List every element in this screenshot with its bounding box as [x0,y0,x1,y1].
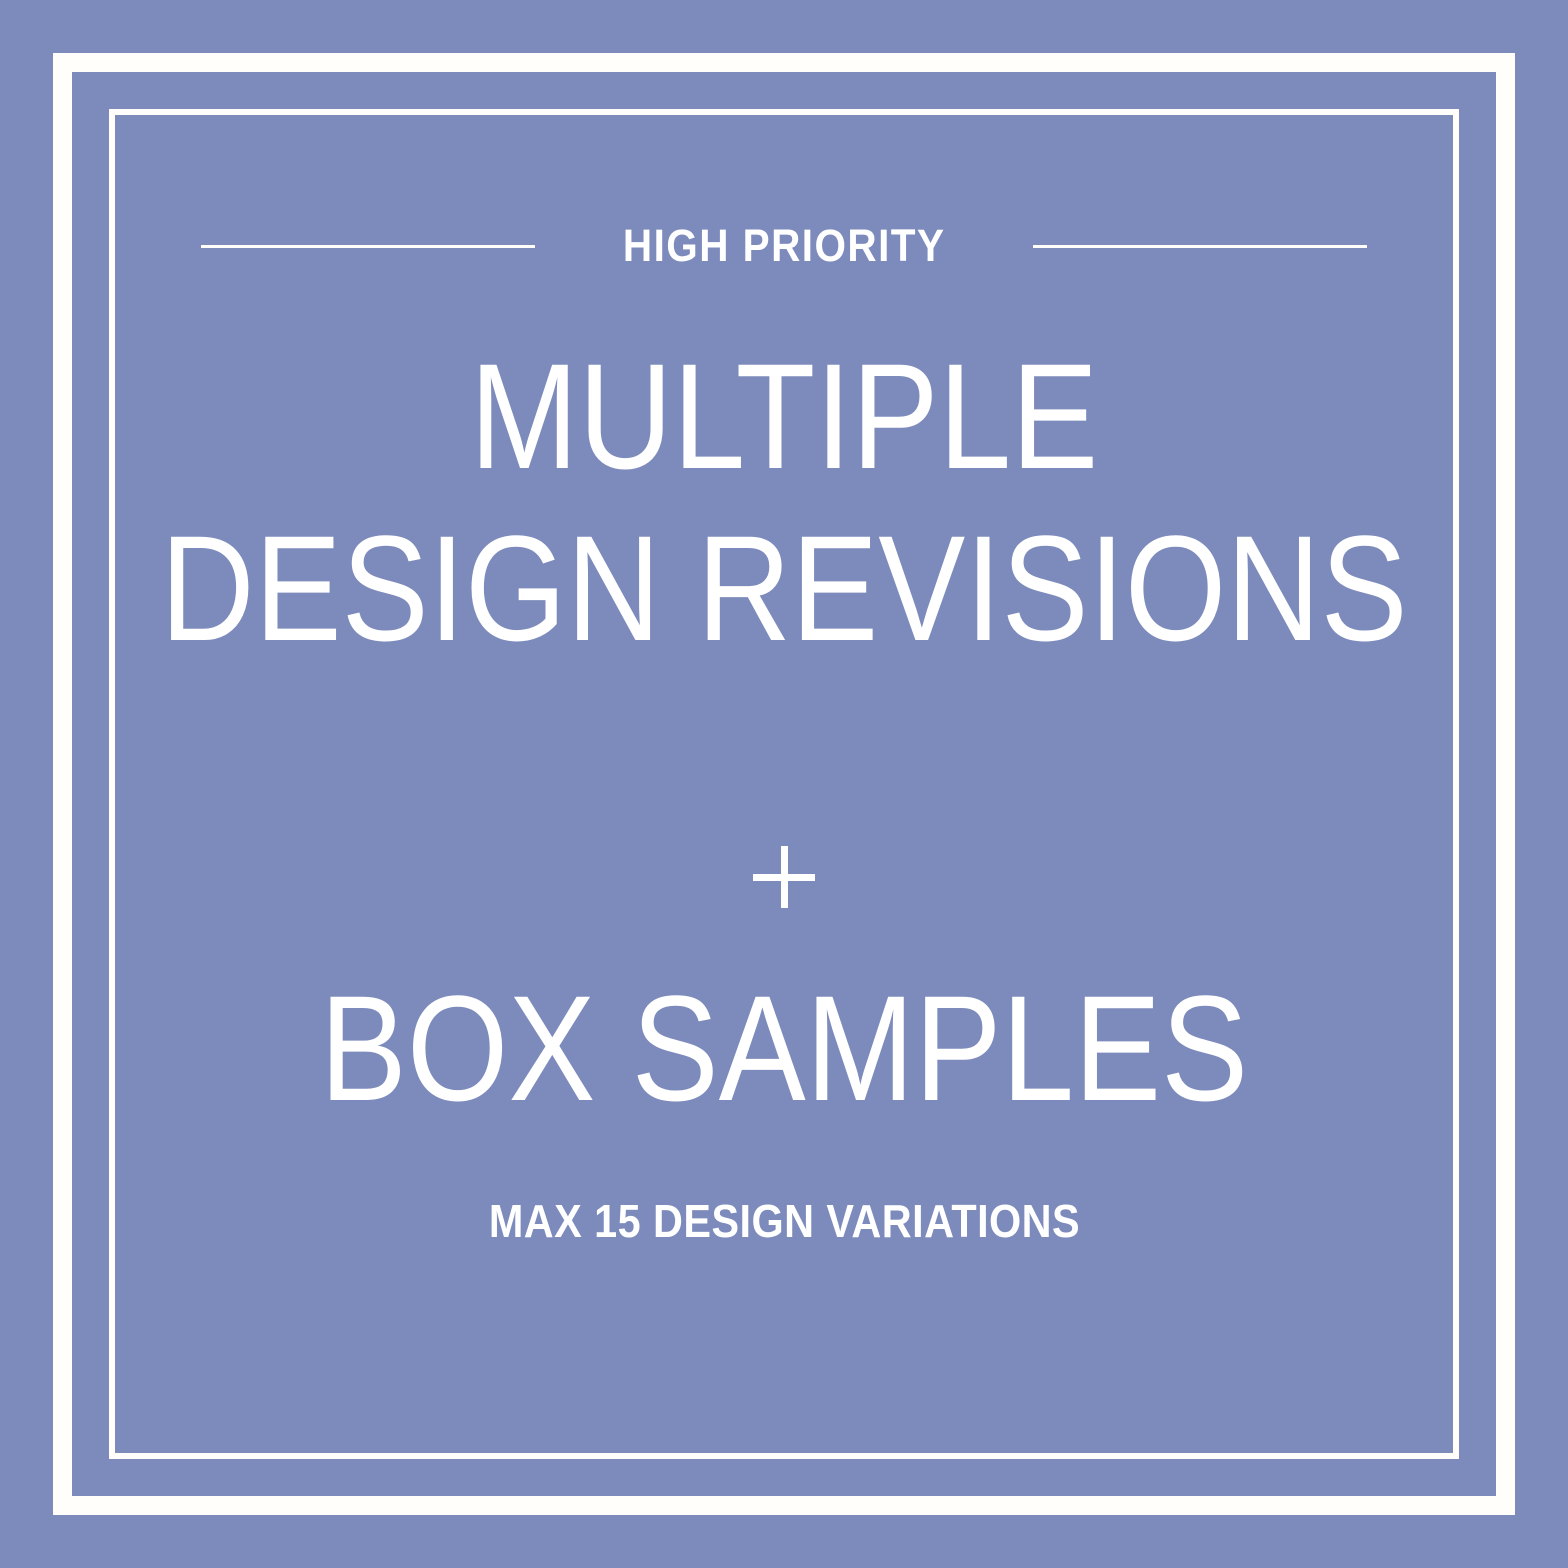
kicker-label: HIGH PRIORITY [623,223,945,269]
plus-separator [0,846,1568,908]
headline-secondary: BOX SAMPLES [0,962,1568,1134]
kicker-rule-left-icon [201,245,535,248]
headline-secondary-line-1: BOX SAMPLES [102,962,1466,1134]
headline-line-2: DESIGN REVISIONS [102,502,1466,674]
kicker-row: HIGH PRIORITY [101,223,1467,269]
priority-promo-card: HIGH PRIORITY MULTIPLE DESIGN REVISIONS … [0,0,1568,1568]
footnote-label: MAX 15 DESIGN VARIATIONS [488,1196,1079,1246]
footnote: MAX 15 DESIGN VARIATIONS [0,1196,1568,1246]
inner-frame-border [109,109,1459,1459]
outer-frame-border [53,53,1515,1515]
headline-primary: MULTIPLE DESIGN REVISIONS [0,330,1568,674]
headline-line-1: MULTIPLE [102,330,1466,502]
plus-icon [753,846,815,908]
kicker-rule-right-icon [1033,245,1367,248]
